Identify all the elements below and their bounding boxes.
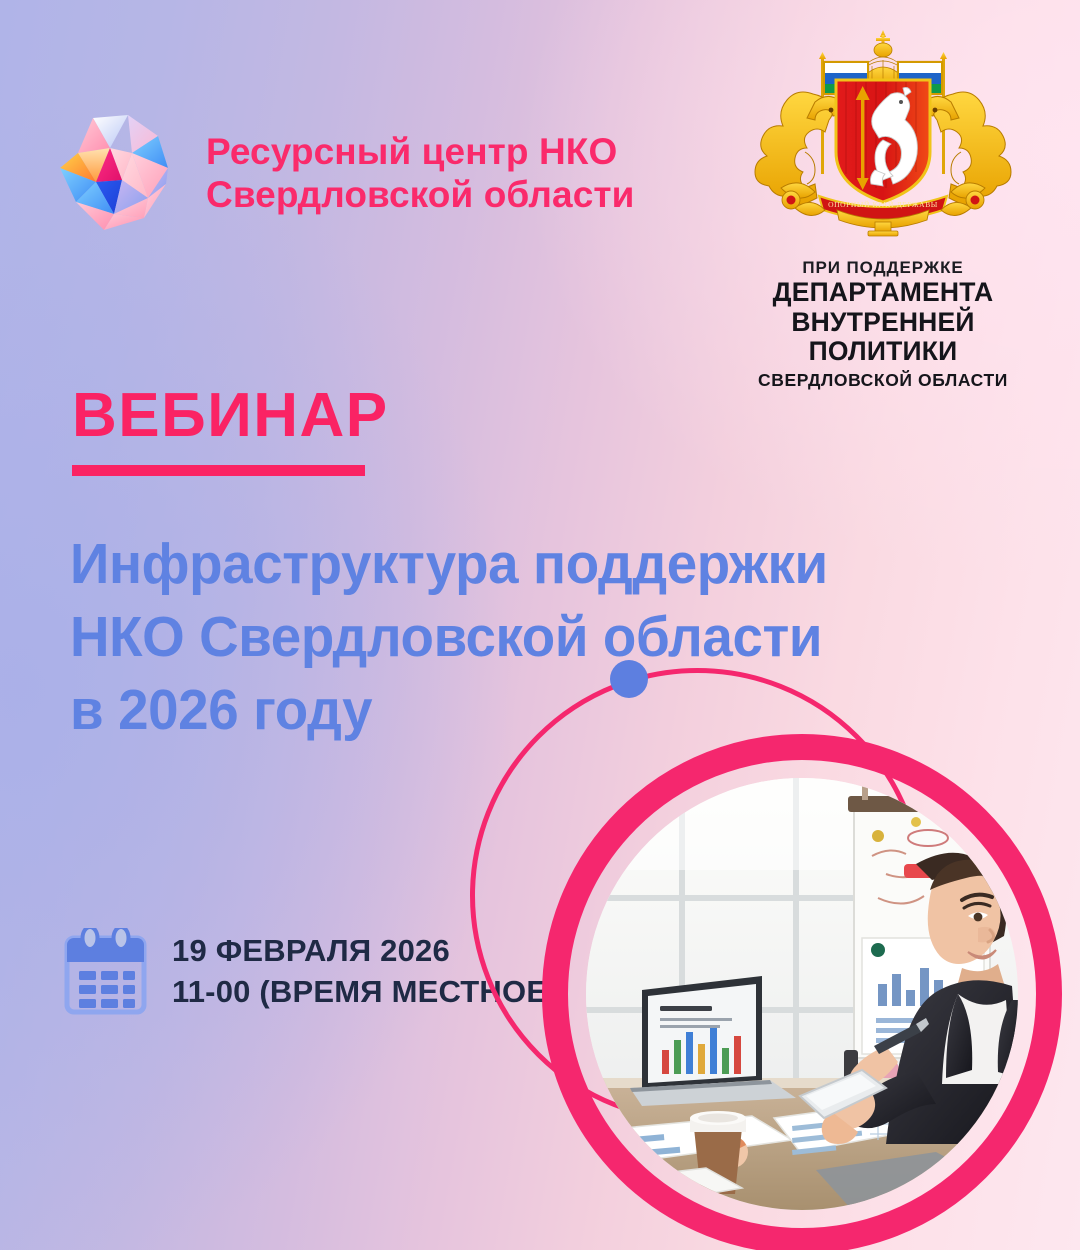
polyhedron-logo-icon — [48, 106, 184, 242]
webinar-poster: Ресурсный центр НКО Свердловской области — [0, 0, 1080, 1250]
brand-lockup: Ресурсный центр НКО Свердловской области — [48, 106, 634, 242]
kicker-underline-rule — [72, 465, 365, 476]
event-type-kicker: ВЕБИНАР — [72, 385, 389, 447]
poster-header: Ресурсный центр НКО Свердловской области — [0, 0, 1080, 370]
kicker-block: ВЕБИНАР — [72, 385, 389, 476]
support-label: ПРИ ПОДДЕРЖКЕ — [802, 258, 963, 278]
svg-text:ОПОРНЫЙ КРАЙ ДЕРЖАВЫ: ОПОРНЫЙ КРАЙ ДЕРЖАВЫ — [828, 200, 938, 209]
support-region-name: СВЕРДЛОВСКОЙ ОБЛАСТИ — [758, 370, 1008, 391]
event-photo — [586, 778, 1018, 1210]
sverdlovsk-oblast-coat-of-arms-icon: ОПОРНЫЙ КРАЙ ДЕРЖАВЫ — [741, 24, 1025, 252]
brand-name: Ресурсный центр НКО Свердловской области — [206, 131, 634, 217]
photo-visual-block — [462, 650, 1080, 1250]
blue-dot-accent — [610, 660, 648, 698]
government-support-block: ОПОРНЫЙ КРАЙ ДЕРЖАВЫ — [728, 24, 1038, 391]
support-department-name: ДЕПАРТАМЕНТА ВНУТРЕННЕЙ ПОЛИТИКИ — [728, 278, 1038, 367]
calendar-icon — [63, 928, 148, 1016]
